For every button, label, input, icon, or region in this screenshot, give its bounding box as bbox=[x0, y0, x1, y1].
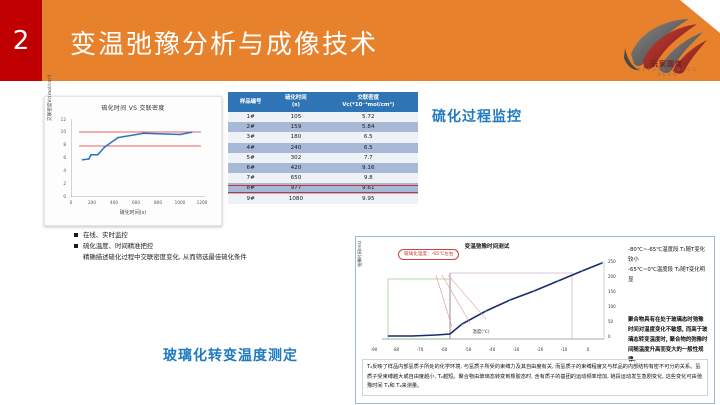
page-title: 变温弛豫分析与成像技术 bbox=[70, 24, 378, 61]
panel-x-tick--80: -80 bbox=[390, 347, 402, 352]
x-tick-200: 200 bbox=[85, 200, 99, 205]
y-tick-2: 2 bbox=[55, 181, 66, 186]
panel-title: 变温弛豫时间测试 bbox=[356, 242, 618, 250]
slide-number: 2 bbox=[0, 0, 42, 81]
y-tick-4: 4 bbox=[55, 168, 66, 173]
cell-sample: 5# bbox=[228, 153, 273, 163]
logo-subtitle-en: R E P U B L I C O F G A M E R S bbox=[638, 67, 697, 77]
cell-density: 6.5 bbox=[319, 143, 418, 153]
y-tick-8: 8 bbox=[55, 142, 66, 147]
cell-time: 180 bbox=[273, 132, 318, 142]
glass-transition-panel: 变温弛豫时间测试 弛豫时间(ms) 温度(℃) 玻璃化温度：-65℃左右 -90… bbox=[355, 236, 715, 404]
table-header-density: 交联密度 Vc(*10⁻⁴mol/cm³) bbox=[319, 92, 418, 112]
cell-time: 650 bbox=[273, 173, 318, 183]
bullet-text: 精确描述硫化过程中交联密度变化, 从而筛选最佳硫化条件 bbox=[83, 252, 247, 263]
panel-y-tick-0: 0 bbox=[608, 334, 620, 339]
header-density-label: 交联密度 bbox=[321, 95, 416, 102]
y-tick-12: 12 bbox=[55, 117, 66, 122]
list-item: 精确描述硫化过程中交联密度变化, 从而筛选最佳硫化条件 bbox=[74, 252, 247, 263]
panel-plot-area bbox=[366, 253, 616, 353]
x-tick-1000: 1000 bbox=[173, 200, 187, 205]
caption-vulcanization-monitoring: 硫化过程监控 bbox=[432, 106, 522, 126]
cell-time: 240 bbox=[273, 143, 318, 153]
panel-paragraph: 聚合物具有在处于玻璃态时弛豫时间对温度变化不敏感, 而高于玻璃态转变温度时, 聚… bbox=[628, 315, 708, 365]
panel-x-tick--40: -40 bbox=[486, 347, 498, 352]
cell-sample: 2# bbox=[228, 122, 273, 132]
cell-density: 6.5 bbox=[319, 132, 418, 142]
caption-glass-transition: 玻璃化转变温度测定 bbox=[163, 345, 298, 365]
table-row: 5#3027.7 bbox=[228, 153, 418, 163]
bullet-text: 硫化温度、时间精准把控 bbox=[83, 241, 153, 252]
cell-time: 105 bbox=[273, 112, 318, 122]
cell-density: 9.8 bbox=[319, 173, 418, 183]
table-highlight-line-bottom bbox=[228, 192, 418, 193]
x-tick-1200: 1200 bbox=[195, 200, 209, 205]
panel-y-tick-50: 50 bbox=[608, 319, 620, 324]
logo-subtitle: 玩家国度 R E P U B L I C O F G A M E R S bbox=[637, 62, 697, 77]
table-highlight-line-top bbox=[228, 185, 418, 186]
cell-density: 9.16 bbox=[319, 163, 418, 173]
panel-notes: -80℃~-65℃温度段 T₂随T变化较小 -65℃~0℃温度段 T₂随T变化明… bbox=[628, 245, 708, 285]
cell-time: 1080 bbox=[273, 194, 318, 204]
bullet-text: 在线、实时监控 bbox=[83, 230, 128, 241]
vulcanization-chart-card: 硫化时间 VS 交联密度 交联密度Vc(mol/cm³) 硫化时间(s) 12 … bbox=[44, 96, 222, 226]
panel-y-axis-label: 弛豫时间(ms) bbox=[357, 241, 363, 267]
table-row: 2#1595.84 bbox=[228, 122, 418, 132]
bullet-square-icon bbox=[74, 233, 78, 237]
header-sample-label: 样品编号 bbox=[240, 99, 262, 105]
panel-note-item: -80℃~-65℃温度段 T₂随T变化较小 bbox=[628, 245, 708, 265]
x-tick-400: 400 bbox=[107, 200, 121, 205]
x-tick-0: 0 bbox=[64, 200, 78, 205]
table-header-row: 样品编号 硫化时间 (s) 交联密度 Vc(*10⁻⁴mol/cm³) bbox=[228, 92, 418, 112]
panel-x-tick--10: -10 bbox=[558, 347, 570, 352]
bullet-square-icon bbox=[74, 244, 78, 248]
table-row: 6#4209.16 bbox=[228, 163, 418, 173]
panel-note-item: -65℃~0℃温度段 T₂随T变化明显 bbox=[628, 265, 708, 285]
cell-density: 5.72 bbox=[319, 112, 418, 122]
y-tick-6: 6 bbox=[55, 155, 66, 160]
header-time-unit: (s) bbox=[275, 102, 316, 109]
cell-time: 302 bbox=[273, 153, 318, 163]
x-tick-600: 600 bbox=[129, 200, 143, 205]
table-header-sample: 样品编号 bbox=[228, 92, 273, 112]
panel-y-tick-100: 100 bbox=[608, 304, 620, 309]
cell-time: 420 bbox=[273, 163, 318, 173]
cell-sample: 9# bbox=[228, 194, 273, 204]
table-row: 1#1055.72 bbox=[228, 112, 418, 122]
panel-x-tick--70: -70 bbox=[414, 347, 426, 352]
cell-sample: 4# bbox=[228, 143, 273, 153]
table-row: 9#10809.95 bbox=[228, 194, 418, 204]
cell-time: 159 bbox=[273, 122, 318, 132]
x-tick-800: 800 bbox=[151, 200, 165, 205]
cell-density: 7.7 bbox=[319, 153, 418, 163]
panel-x-tick--50: -50 bbox=[462, 347, 474, 352]
panel-y-tick-250: 250 bbox=[608, 259, 620, 264]
cell-sample: 6# bbox=[228, 163, 273, 173]
chart-x-axis-label: 硫化时间(s) bbox=[45, 209, 221, 216]
slide: 2 变温弛豫分析与成像技术 玩家国度 R E P U B L I C O F G… bbox=[0, 0, 720, 405]
crosslink-density-table: 样品编号 硫化时间 (s) 交联密度 Vc(*10⁻⁴mol/cm³) 1#10… bbox=[228, 92, 418, 226]
chart-title: 硫化时间 VS 交联密度 bbox=[45, 103, 221, 112]
bullet-list: 在线、实时监控 硫化温度、时间精准把控 精确描述硫化过程中交联密度变化, 从而筛… bbox=[74, 230, 247, 263]
cell-density: 5.84 bbox=[319, 122, 418, 132]
list-item: 硫化温度、时间精准把控 bbox=[74, 241, 247, 252]
panel-y-tick-150: 150 bbox=[608, 289, 620, 294]
panel-x-tick--30: -30 bbox=[510, 347, 522, 352]
header-time-label: 硫化时间 bbox=[275, 95, 316, 102]
panel-y-tick-200: 200 bbox=[608, 274, 620, 279]
cell-sample: 1# bbox=[228, 112, 273, 122]
table-row: 7#6509.8 bbox=[228, 173, 418, 183]
panel-x-tick--60: -60 bbox=[438, 347, 450, 352]
table-header-time: 硫化时间 (s) bbox=[273, 92, 318, 112]
table-row: 3#1806.5 bbox=[228, 132, 418, 142]
panel-x-tick--90: -90 bbox=[368, 347, 380, 352]
cell-density: 9.95 bbox=[319, 194, 418, 204]
cell-sample: 3# bbox=[228, 132, 273, 142]
chart-y-axis-label: 交联密度Vc(mol/cm³) bbox=[47, 74, 53, 121]
chart-plot-area bbox=[71, 119, 205, 197]
list-item: 在线、实时监控 bbox=[74, 230, 247, 241]
y-tick-10: 10 bbox=[55, 129, 66, 134]
panel-x-tick-0: 0 bbox=[582, 347, 594, 352]
cell-sample: 7# bbox=[228, 173, 273, 183]
y-tick-0: 0 bbox=[55, 194, 66, 199]
panel-footer-text: T₂反映了样品内部氢质子所处的化学环境, 与氢质子所受的束缚力及其自由度有关, … bbox=[362, 359, 708, 396]
table-row: 4#2406.5 bbox=[228, 143, 418, 153]
panel-x-tick--20: -20 bbox=[534, 347, 546, 352]
header-density-unit: Vc(*10⁻⁴mol/cm³) bbox=[321, 102, 416, 109]
